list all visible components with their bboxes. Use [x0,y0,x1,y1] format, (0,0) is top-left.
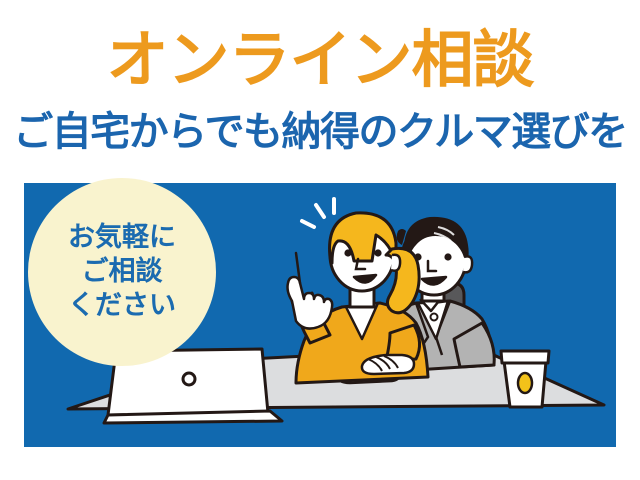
pointing-hand-icon [288,253,333,329]
sparkle-icon [302,199,334,227]
coffee-cup-icon [501,351,549,407]
page-title: オンライン相談 [0,26,640,94]
page-subtitle: ご自宅からでも納得のクルマ選びを [0,108,640,156]
consultation-badge: お気軽に ご相談 ください [28,178,216,366]
online-consultation-banner: オンライン相談 ご自宅からでも納得のクルマ選びを [0,0,640,480]
badge-line-3: ください [68,289,176,323]
badge-line-2: ご相談 [82,255,163,289]
badge-line-1: お気軽に [68,221,176,255]
